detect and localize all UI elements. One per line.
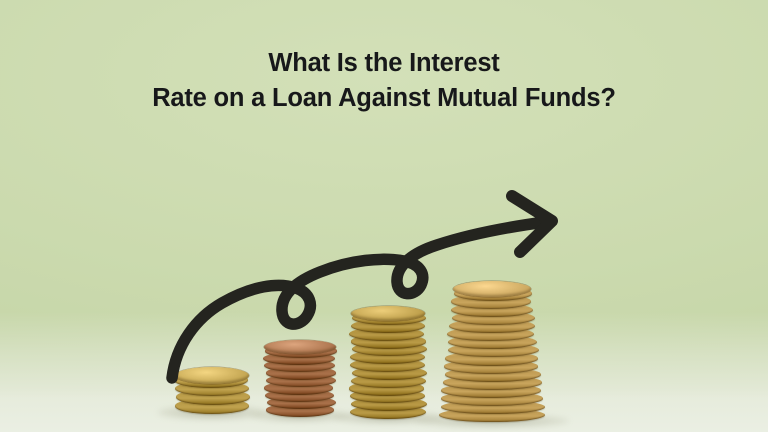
banner-title: What Is the Interest Rate on a Loan Agai… (0, 46, 768, 116)
promo-banner: What Is the Interest Rate on a Loan Agai… (0, 0, 768, 432)
coin-stack-top-face (175, 367, 249, 384)
coin-stack-top-face (264, 340, 336, 355)
title-line-1: What Is the Interest (0, 46, 768, 81)
title-line-2: Rate on a Loan Against Mutual Funds? (0, 81, 768, 116)
